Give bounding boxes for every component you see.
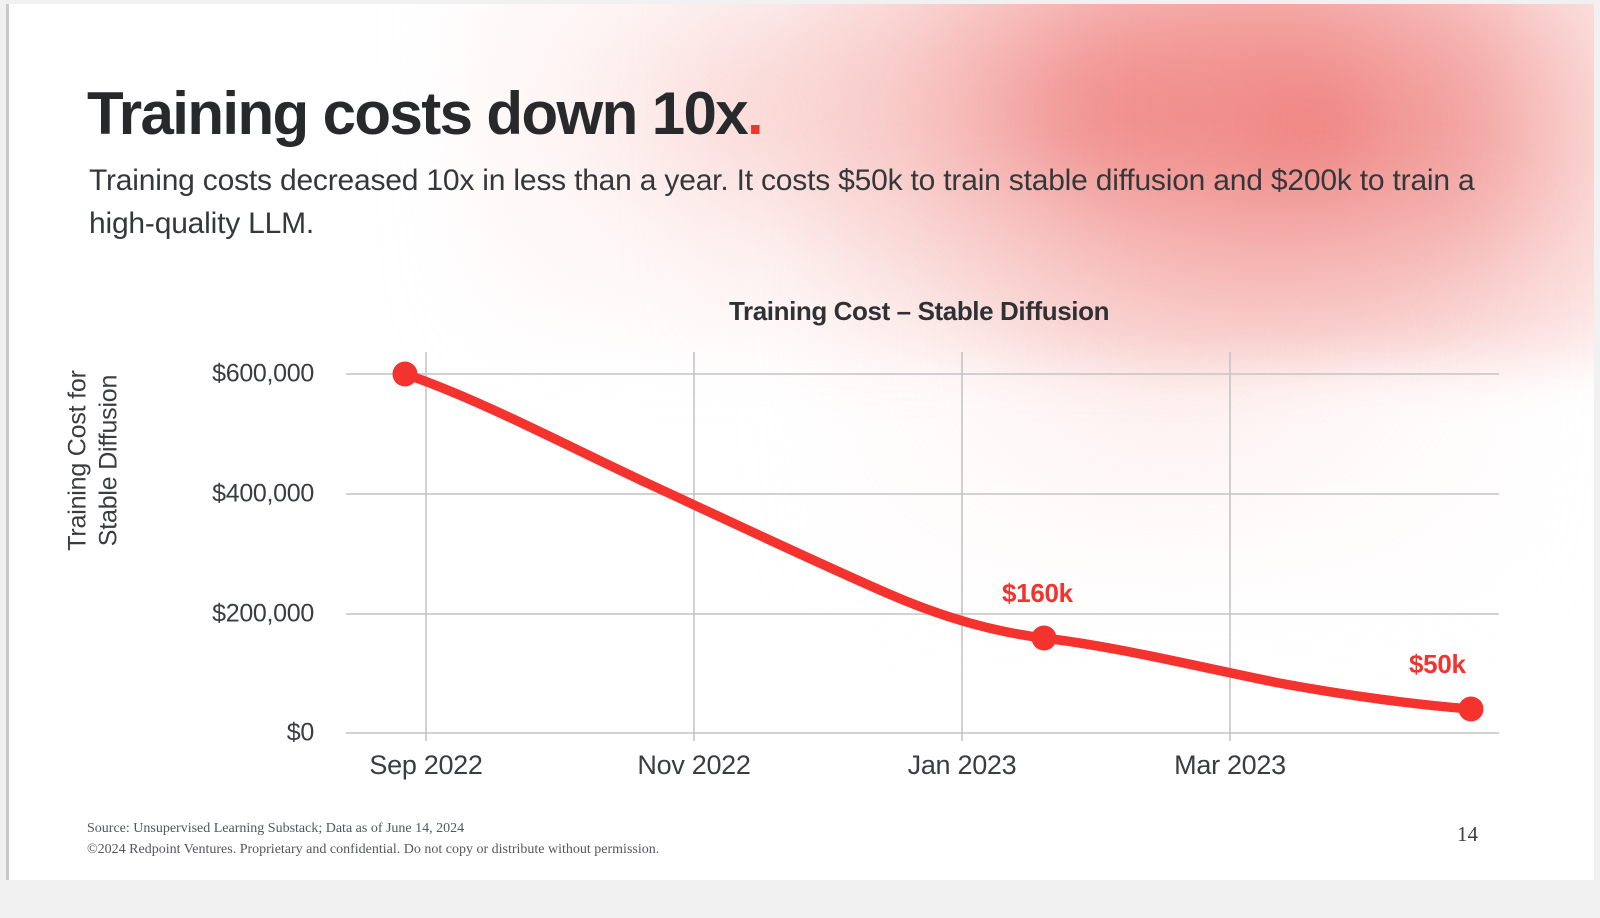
footer: Source: Unsupervised Learning Substack; …	[87, 818, 659, 860]
slide: Training costs down 10x. Training costs …	[6, 4, 1594, 880]
chart-marker-600000	[393, 362, 418, 387]
page-number: 14	[1457, 822, 1478, 847]
chart-plot-area	[9, 4, 1594, 880]
chart-series-line	[405, 374, 1471, 709]
footer-copyright: ©2024 Redpoint Ventures. Proprietary and…	[87, 839, 659, 860]
chart-data-label-160k: $160k	[1002, 578, 1073, 609]
chart-horizontal-gridlines	[346, 374, 1499, 733]
chart-marker-160k	[1032, 626, 1057, 651]
chart-marker-50k	[1459, 697, 1484, 722]
chart-container: Training Cost – Stable Diffusion Trainin…	[9, 4, 1594, 880]
chart-data-label-50k: $50k	[1409, 649, 1466, 680]
chart-vertical-gridlines	[426, 352, 1230, 741]
footer-source: Source: Unsupervised Learning Substack; …	[87, 818, 659, 839]
